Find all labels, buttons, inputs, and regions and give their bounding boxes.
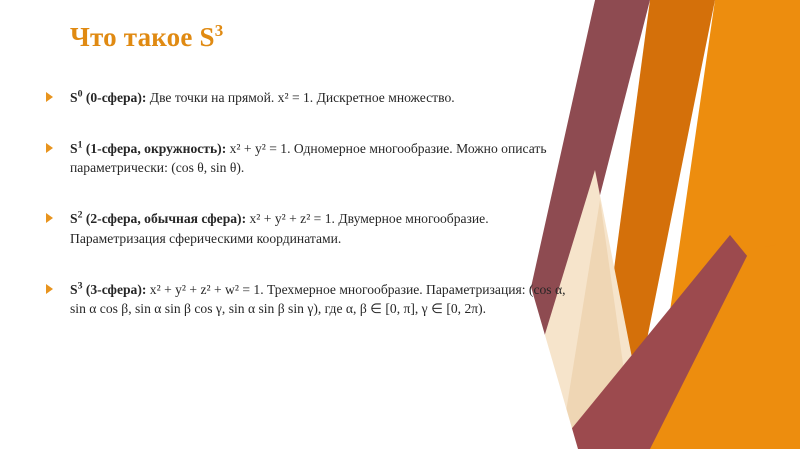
bullet-lead-symbol: S — [70, 211, 78, 226]
deco-orange-lower — [650, 240, 800, 449]
bullet-lead-symbol: S — [70, 141, 78, 156]
bullet-lead-rest: (3-сфера): — [82, 282, 146, 297]
bullet-lead: S1 (1-сфера, окружность): — [70, 141, 226, 156]
list-item: S3 (3-сфера): x² + y² + z² + w² = 1. Тре… — [40, 280, 570, 319]
bullet-lead-rest: (1-сфера, окружность): — [82, 141, 226, 156]
triangle-right-icon — [46, 143, 53, 153]
bullet-lead-rest: (2-сфера, обычная сфера): — [82, 211, 246, 226]
bullet-lead: S0 (0-сфера): — [70, 90, 146, 105]
triangle-right-icon — [46, 213, 53, 223]
list-item: S1 (1-сфера, окружность): x² + y² = 1. О… — [40, 139, 570, 178]
bullet-lead: S2 (2-сфера, обычная сфера): — [70, 211, 246, 226]
slide-title: Что такое S3 — [70, 21, 223, 53]
bullet-list: S0 (0-сфера): Две точки на прямой. x² = … — [40, 88, 570, 319]
list-item: S0 (0-сфера): Две точки на прямой. x² = … — [40, 88, 570, 108]
presentation-slide: Что такое S3 S0 (0-сфера): Две точки на … — [0, 0, 800, 449]
deco-orange-bright — [650, 0, 800, 449]
bullet-lead: S3 (3-сфера): — [70, 282, 146, 297]
bullet-text: Две точки на прямой. x² = 1. Дискретное … — [146, 90, 454, 105]
deco-orange-dark — [590, 0, 715, 449]
slide-title-text: Что такое S — [70, 22, 215, 52]
deco-maroon-stripe — [555, 235, 775, 449]
deco-tan-sliver — [560, 200, 635, 449]
triangle-right-icon — [46, 92, 53, 102]
bullet-lead-symbol: S — [70, 282, 78, 297]
triangle-right-icon — [46, 284, 53, 294]
list-item: S2 (2-сфера, обычная сфера): x² + y² + z… — [40, 209, 570, 248]
slide-title-superscript: 3 — [215, 21, 224, 40]
bullet-lead-rest: (0-сфера): — [82, 90, 146, 105]
bullet-lead-symbol: S — [70, 90, 78, 105]
